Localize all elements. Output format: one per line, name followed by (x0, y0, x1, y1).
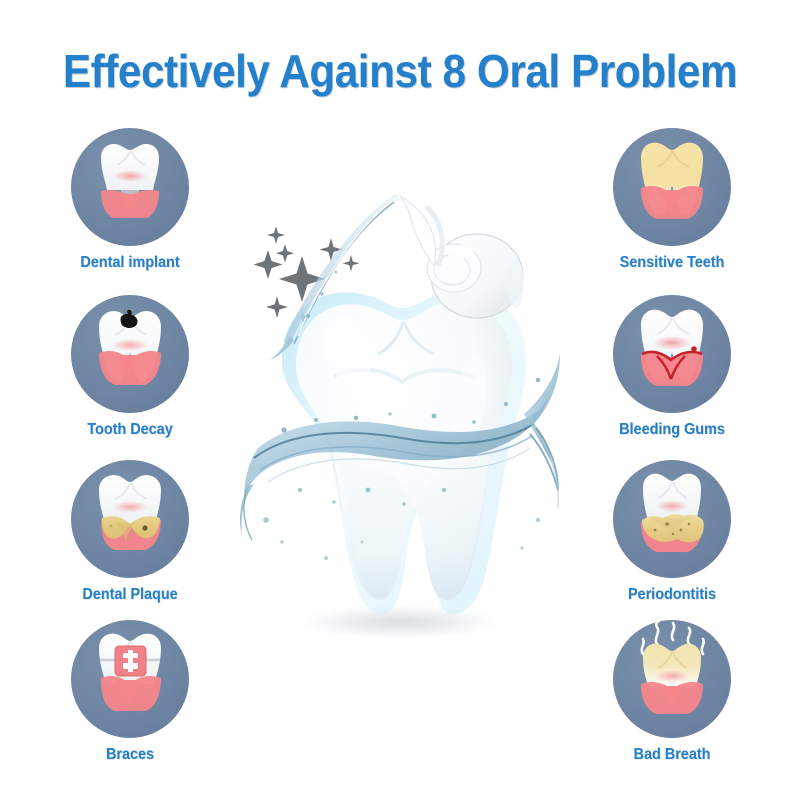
feature-label: Braces (60, 746, 200, 764)
feature-label: Tooth Decay (60, 421, 200, 439)
feature-sensitive-teeth[interactable]: Sensitive Teeth (597, 128, 747, 272)
feature-tooth-decay[interactable]: Tooth Decay (55, 295, 205, 439)
tooth-periodontitis-icon (613, 460, 731, 578)
feature-label: Bleeding Gums (602, 421, 742, 439)
feature-braces[interactable]: Braces (55, 620, 205, 764)
feature-label: Bad Breath (602, 746, 742, 764)
tooth-plaque-icon (71, 460, 189, 578)
feature-label: Periodontitis (602, 586, 742, 604)
feature-periodontitis[interactable]: Periodontitis (597, 460, 747, 604)
tooth-bad-breath-icon (613, 620, 731, 738)
tooth-braces-icon (71, 620, 189, 738)
tooth-bleeding-gums-icon (613, 295, 731, 413)
page-title: Effectively Against 8 Oral Problem (32, 44, 768, 98)
poster: Effectively Against 8 Oral Problem (0, 0, 800, 800)
tooth-implant-icon (71, 128, 189, 246)
feature-label: Dental implant (60, 254, 200, 272)
feature-label: Sensitive Teeth (602, 254, 742, 272)
hero-tooth-illustration (238, 190, 568, 660)
feature-dental-implant[interactable]: Dental implant (55, 128, 205, 272)
tooth-sensitive-icon (613, 128, 731, 246)
feature-bleeding-gums[interactable]: Bleeding Gums (597, 295, 747, 439)
feature-dental-plaque[interactable]: Dental Plaque (55, 460, 205, 604)
feature-bad-breath[interactable]: Bad Breath (597, 620, 747, 764)
feature-label: Dental Plaque (60, 586, 200, 604)
water-flosser-device (400, 196, 524, 318)
tooth-decay-icon (71, 295, 189, 413)
